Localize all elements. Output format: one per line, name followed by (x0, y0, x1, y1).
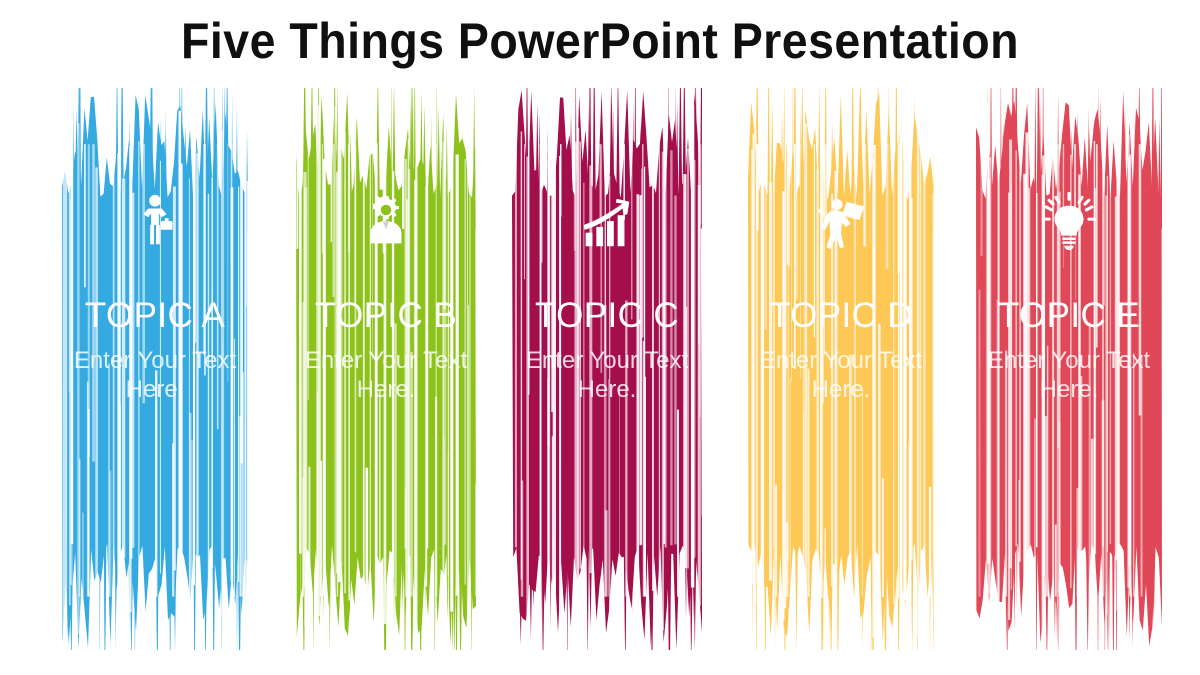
brush-stroke-shape-e (976, 88, 1162, 650)
brush-stroke-shape-c (512, 88, 702, 650)
topic-column-a[interactable]: TOPIC A Enter Your Text Here. (62, 88, 248, 650)
topic-column-c[interactable]: TOPIC C Enter Your Text Here. (512, 88, 702, 650)
topic-columns: TOPIC A Enter Your Text Here. TOPIC B En… (0, 0, 1200, 675)
topic-column-d[interactable]: TOPIC D Enter Your Text Here. (748, 88, 934, 650)
topic-column-e[interactable]: TOPIC E Enter Your Text Here. (976, 88, 1162, 650)
topic-column-b[interactable]: TOPIC B Enter Your Text Here. (296, 88, 476, 650)
brush-stroke-shape-a (62, 88, 248, 650)
brush-stroke-shape-d (748, 88, 934, 650)
brush-stroke-shape-b (296, 88, 476, 650)
presentation-slide: Five Things PowerPoint Presentation TOPI… (0, 0, 1200, 675)
